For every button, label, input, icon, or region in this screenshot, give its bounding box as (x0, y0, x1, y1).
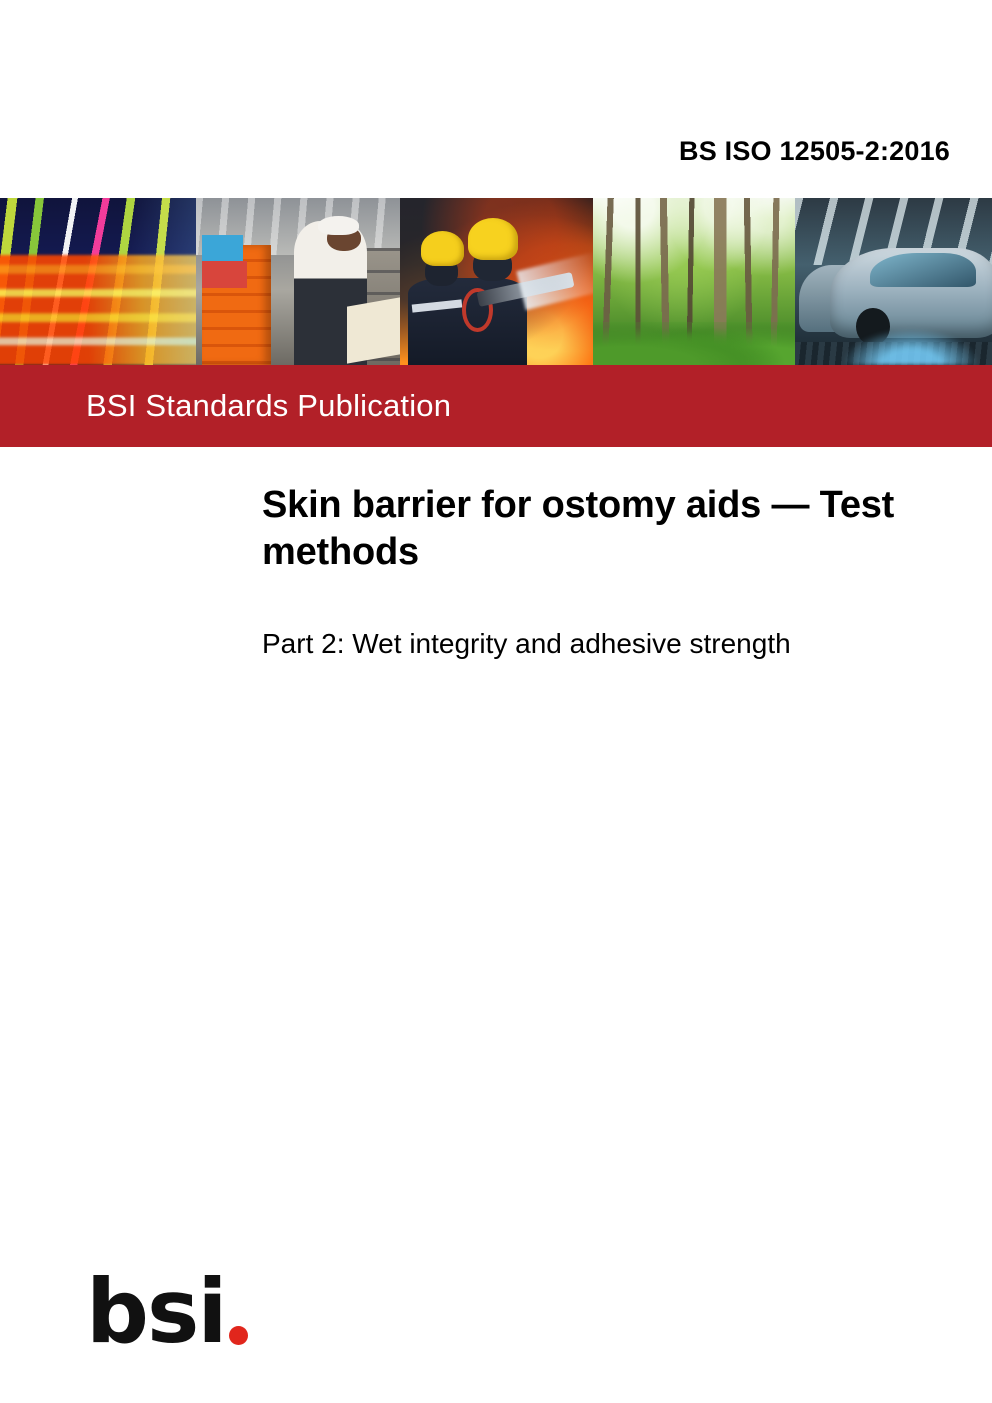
document-title: Skin barrier for ostomy aids — Test meth… (262, 482, 962, 576)
photo-firefighters (400, 198, 593, 365)
forest-undergrowth (593, 322, 795, 365)
red-dot-icon (229, 1326, 248, 1345)
worker-cap (318, 216, 359, 234)
car-windshield (870, 253, 976, 286)
bsi-logo: bsi (86, 1277, 248, 1347)
title-block: Skin barrier for ostomy aids — Test meth… (262, 482, 962, 663)
cardboard-box (347, 297, 400, 363)
photo-warehouse-worker (196, 198, 400, 365)
banner-label: BSI Standards Publication (86, 388, 451, 424)
photo-strip (0, 198, 992, 365)
bsi-standards-banner: BSI Standards Publication (0, 365, 992, 447)
yellow-helmet-right (468, 218, 518, 260)
photo-forest (593, 198, 795, 365)
document-subtitle: Part 2: Wet integrity and adhesive stren… (262, 626, 962, 662)
red-crate (202, 261, 247, 288)
yellow-helmet-left (421, 231, 463, 266)
standard-number: BS ISO 12505-2:2016 (679, 136, 950, 167)
inspection-light-glow (842, 328, 980, 365)
photo-car-assembly-line (795, 198, 992, 365)
blue-crate (202, 235, 243, 262)
bsi-wordmark: bsi (86, 1277, 226, 1347)
document-cover-page: BS ISO 12505-2:2016 (0, 0, 992, 1403)
photo-night-traffic-light-trails (0, 198, 196, 365)
